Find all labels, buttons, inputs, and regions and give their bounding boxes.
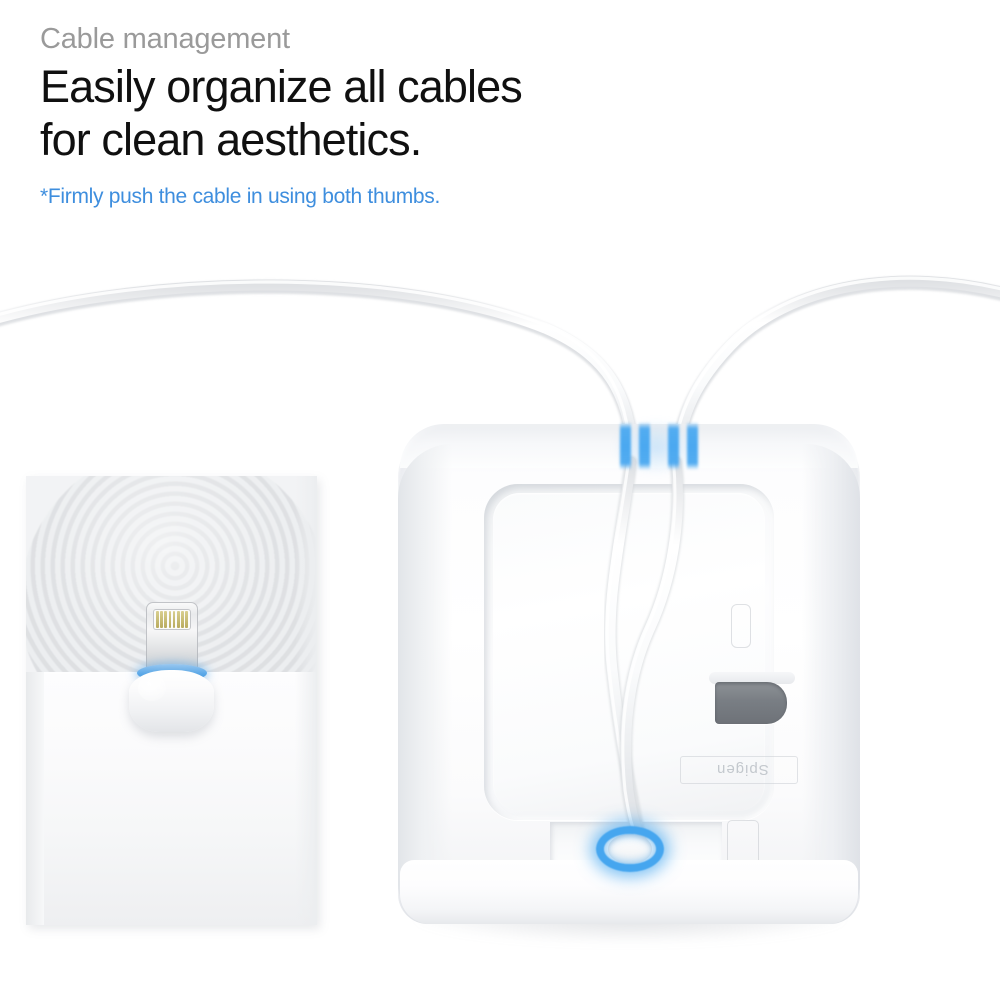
dock-left-face <box>398 444 452 914</box>
dock-right-face <box>802 444 860 914</box>
cable-clip-slot <box>715 682 787 724</box>
page-title: Easily organize all cables for clean aes… <box>40 60 740 166</box>
eyebrow-label: Cable management <box>40 22 740 56</box>
lightning-connector <box>129 602 214 737</box>
contact-pin <box>185 611 188 628</box>
cable-highlight-band-2 <box>639 422 650 470</box>
inset-side-wall <box>26 672 44 925</box>
footnote-text: *Firmly push the cable in using both thu… <box>40 184 740 209</box>
cable-highlight-band-1 <box>620 422 631 470</box>
contact-pin <box>156 611 159 628</box>
inset-right-wall <box>295 476 317 925</box>
connector-metal-tip <box>146 602 198 672</box>
closeup-inset-panel <box>26 476 317 925</box>
connector-contact-pad <box>153 609 191 630</box>
contact-pin <box>160 611 163 628</box>
contact-pin <box>177 611 180 628</box>
cable-highlight-band-3 <box>668 422 679 470</box>
dock-recessed-tray: Spigen <box>484 484 774 820</box>
connector-mount-base <box>129 670 214 732</box>
emboss-mark-upper <box>731 604 751 648</box>
contact-pin <box>164 611 167 628</box>
brand-emboss-text: Spigen <box>716 761 769 778</box>
contact-pin <box>181 611 184 628</box>
cable-exit-highlight-ring <box>596 826 664 872</box>
contact-pin <box>173 611 176 628</box>
contact-pin <box>169 611 172 628</box>
marketing-text-block: Cable management Easily organize all cab… <box>40 22 740 210</box>
product-marketing-image: Cable management Easily organize all cab… <box>0 0 1000 1000</box>
cable-highlight-band-4 <box>687 422 698 470</box>
